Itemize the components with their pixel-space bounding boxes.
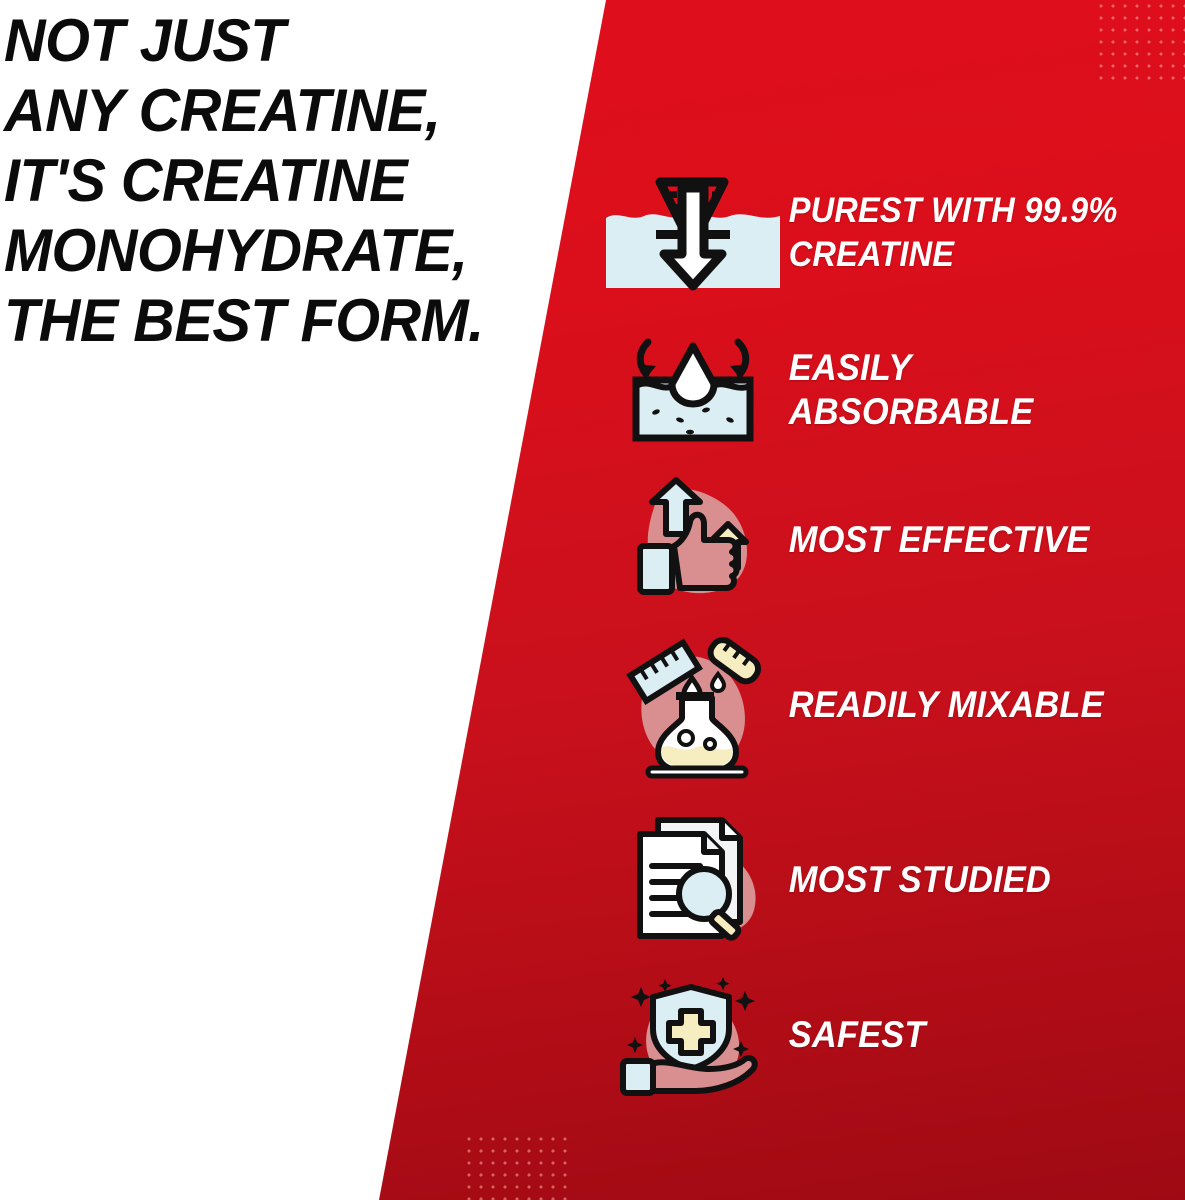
droplet-absorption-icon: [600, 334, 785, 446]
document-magnifier-icon: [600, 810, 785, 950]
list-item-label: PUREST WITH 99.9% CREATINE: [785, 189, 1157, 277]
list-item-label: READILY MIXABLE: [785, 683, 1157, 727]
list-item: EASILY ABSORBABLE: [600, 330, 1185, 450]
flask-test-tubes-icon: [600, 630, 785, 780]
filter-purity-icon: [600, 174, 785, 292]
list-item: PUREST WITH 99.9% CREATINE: [600, 168, 1185, 298]
list-item: MOST STUDIED: [600, 810, 1185, 950]
list-item-label: EASILY ABSORBABLE: [785, 346, 1157, 434]
list-item-label: SAFEST: [785, 1013, 1157, 1057]
hand-shield-icon: [600, 973, 785, 1097]
list-item: READILY MIXABLE: [600, 630, 1185, 780]
list-item-label: MOST STUDIED: [785, 858, 1157, 902]
list-item: MOST EFFECTIVE: [600, 470, 1185, 610]
list-item: SAFEST: [600, 970, 1185, 1100]
page-title: NOT JUST ANY CREATINE, IT'S CREATINE MON…: [4, 6, 542, 356]
infographic-poster: NOT JUST ANY CREATINE, IT'S CREATINE MON…: [0, 0, 1185, 1200]
thumbs-up-arrows-icon: [600, 472, 785, 608]
list-item-label: MOST EFFECTIVE: [785, 518, 1157, 562]
feature-list: PUREST WITH 99.9% CREATINE: [600, 160, 1185, 1100]
